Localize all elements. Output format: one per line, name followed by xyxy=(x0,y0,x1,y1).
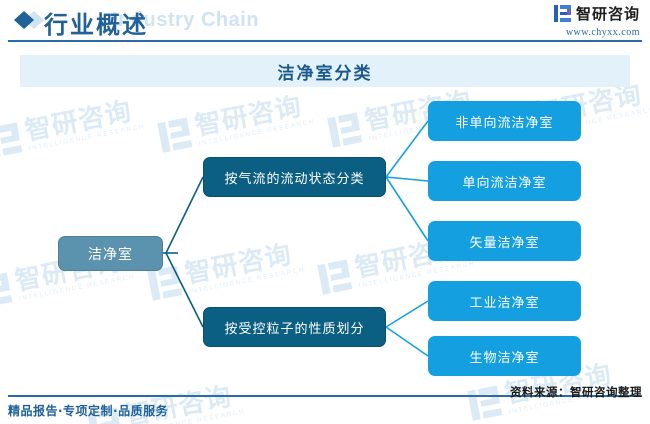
node-root-label: 洁净室 xyxy=(88,244,133,264)
node-leaf-label: 矢量洁净室 xyxy=(469,232,539,251)
chart-title-bar: 洁净室分类 xyxy=(20,55,630,87)
watermark-en: INTELLIGENCE RESEARCH xyxy=(18,274,136,303)
node-branch-particle[interactable]: 按受控粒子的性质划分 xyxy=(203,307,386,347)
node-leaf-non-unidirectional[interactable]: 非单向流洁净室 xyxy=(428,101,581,141)
watermark-en: INTELLIGENCE RESEARCH xyxy=(188,267,306,296)
node-leaf-biological[interactable]: 生物洁净室 xyxy=(428,336,581,376)
watermark-cn: 智研咨询 xyxy=(193,91,314,139)
diamond-icon xyxy=(13,10,45,35)
watermark: 智研咨询 INTELLIGENCE RESEARCH xyxy=(147,239,306,304)
footer-tagline: 精品报告·专项定制·品质服务 xyxy=(8,402,168,419)
node-branch-airflow-label: 按气流的流动状态分类 xyxy=(224,168,364,187)
node-branch-particle-label: 按受控粒子的性质划分 xyxy=(224,318,364,337)
brand-name: 智研咨询 xyxy=(576,3,640,24)
watermark-cn: 智研咨询 xyxy=(23,96,144,144)
watermark: 智研咨询 INTELLIGENCE RESEARCH xyxy=(0,96,146,161)
header-divider xyxy=(8,40,642,42)
node-leaf-label: 单向流洁净室 xyxy=(462,172,546,191)
zhiyan-watermark-logo-icon xyxy=(317,259,352,294)
node-leaf-label: 工业洁净室 xyxy=(469,292,539,311)
zhiyan-watermark-logo-icon xyxy=(0,122,22,157)
brand-url[interactable]: www.chyxx.com xyxy=(554,27,640,38)
node-root[interactable]: 洁净室 xyxy=(58,236,163,271)
page-footer: 资料来源：智研咨询整理 精品报告·专项定制·品质服务 xyxy=(0,390,650,424)
page-header: Industry Chain 行业概述 智研咨询 www.chyxx.com xyxy=(0,0,650,46)
node-leaf-label: 非单向流洁净室 xyxy=(455,112,553,131)
watermark: 智研咨询 INTELLIGENCE RESEARCH xyxy=(157,91,316,156)
watermark-cn: 智研咨询 xyxy=(183,239,304,287)
watermark-en: INTELLIGENCE RESEARCH xyxy=(28,124,146,153)
node-leaf-label: 生物洁净室 xyxy=(469,347,539,366)
zhiyan-watermark-logo-icon xyxy=(0,272,12,307)
node-branch-airflow[interactable]: 按气流的流动状态分类 xyxy=(203,157,386,197)
brand-block: 智研咨询 www.chyxx.com xyxy=(554,3,640,38)
page-title: 行业概述 xyxy=(44,5,148,40)
chart-title: 洁净室分类 xyxy=(278,59,373,84)
zhiyan-watermark-logo-icon xyxy=(157,117,192,152)
zhiyan-logo-icon xyxy=(554,5,571,22)
node-leaf-unidirectional[interactable]: 单向流洁净室 xyxy=(428,161,581,201)
node-leaf-vector[interactable]: 矢量洁净室 xyxy=(428,221,581,261)
node-leaf-industrial[interactable]: 工业洁净室 xyxy=(428,281,581,321)
watermark-en: INTELLIGENCE RESEARCH xyxy=(198,119,316,148)
zhiyan-watermark-logo-icon xyxy=(327,112,362,147)
source-note: 资料来源：智研咨询整理 xyxy=(510,384,642,400)
